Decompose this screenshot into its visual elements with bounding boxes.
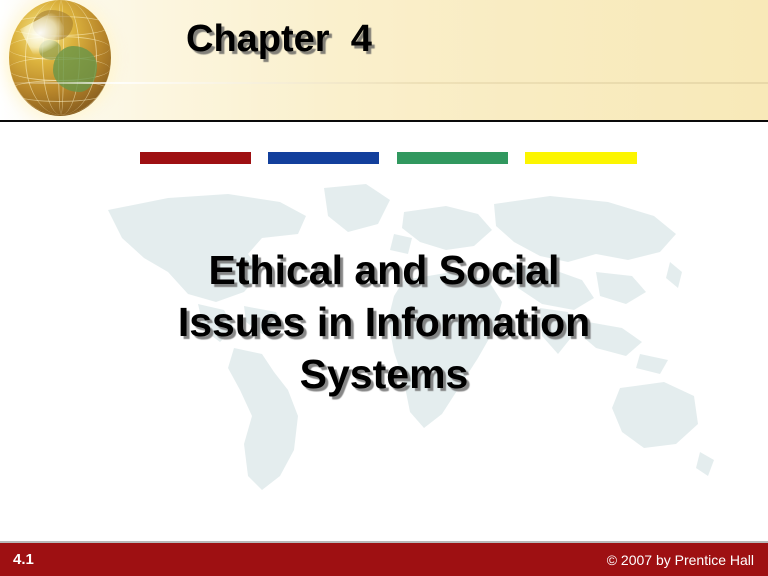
slide-footer: 4.1 © 2007 by Prentice Hall (0, 543, 768, 576)
header-bottom-border (0, 120, 768, 122)
slide-number: 4.1 (13, 551, 34, 568)
slide-title-line-3: Systems (60, 348, 708, 400)
chapter-heading: Chapter 4 (186, 18, 372, 61)
accent-bar-green (397, 152, 508, 164)
slide-title: Ethical and Social Issues in Information… (60, 244, 708, 400)
accent-bar-yellow (525, 152, 637, 164)
globe-icon (0, 0, 124, 122)
accent-bar-blue (268, 152, 379, 164)
globe-sphere (9, 0, 111, 116)
header-divider-rule (0, 82, 768, 84)
slide-header: Chapter 4 (0, 0, 768, 122)
presentation-slide: Chapter 4 (0, 0, 768, 576)
accent-bar-red (140, 152, 251, 164)
slide-title-line-1: Ethical and Social (60, 244, 708, 296)
slide-title-line-2: Issues in Information (60, 296, 708, 348)
copyright-notice: © 2007 by Prentice Hall (607, 552, 754, 568)
